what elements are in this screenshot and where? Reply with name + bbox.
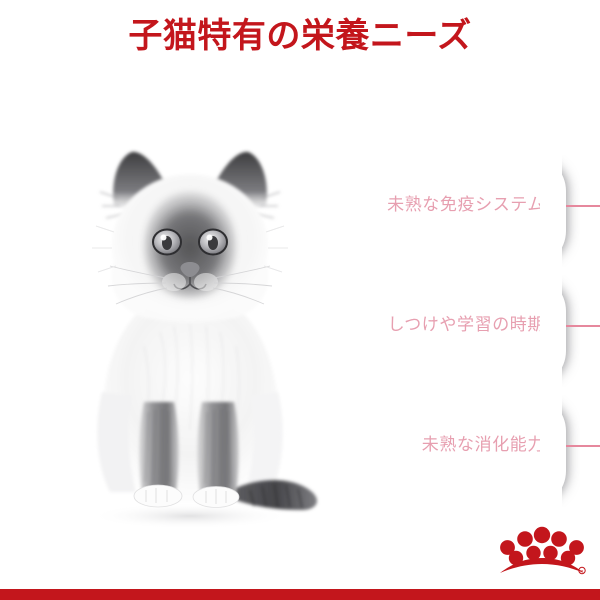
kitten-image [40,120,340,540]
registered-trademark-mark: R [579,567,585,573]
bottom-accent-bar [0,589,600,600]
callout-label: 未熟な免疫システム [387,194,545,216]
infographic-page: 子猫特有の栄養ニーズ [0,0,600,600]
callout-label: しつけや学習の時期 [388,314,545,336]
bracket-curve-icon [540,275,580,387]
callout-item: しつけや学習の時期 [340,270,600,390]
connector-line-icon [566,205,600,207]
callout-label: 未熟な消化能力 [422,434,545,456]
bracket-curve-icon [540,155,580,267]
crown-logo-svg: R [494,520,590,582]
bracket-curve-icon [540,395,580,507]
callout-item: 未熟な免疫システム [340,150,600,270]
royal-canin-crown-logo: R [494,520,590,582]
connector-line-icon [566,325,600,327]
connector-line-icon [566,445,600,447]
kitten-illustration-svg [40,120,340,540]
svg-text:R: R [581,569,584,574]
page-title: 子猫特有の栄養ニーズ [0,14,600,58]
callout-item: 未熟な消化能力 [340,390,600,510]
